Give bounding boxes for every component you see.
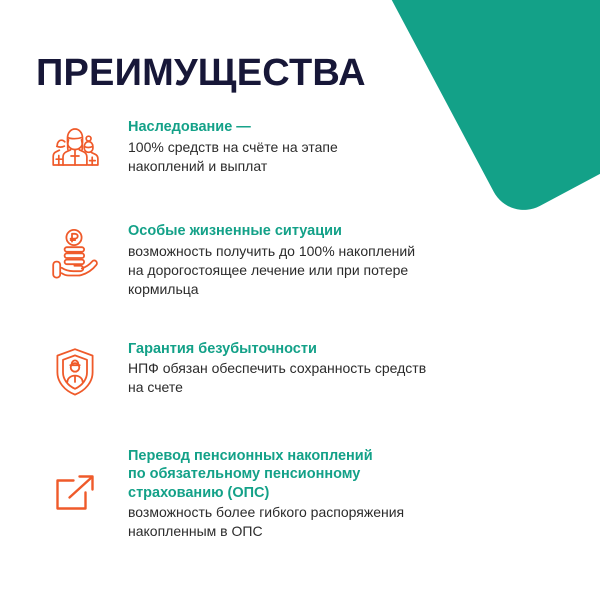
page-title: ПРЕИМУЩЕСТВА bbox=[36, 50, 366, 96]
benefit-text-block: Гарантия безубыточности НПФ обязан обесп… bbox=[106, 340, 600, 398]
benefit-heading: Особые жизненные ситуации bbox=[128, 222, 600, 241]
hand-with-coins-ruble-icon bbox=[44, 222, 106, 284]
shield-person-icon bbox=[44, 340, 106, 402]
benefit-description: 100% средств на счёте на этапе накоплени… bbox=[128, 138, 600, 176]
benefit-heading: Перевод пенсионных накоплений по обязате… bbox=[128, 447, 600, 503]
benefit-item: Наследование — 100% средств на счёте на … bbox=[0, 118, 600, 178]
benefit-text-block: Наследование — 100% средств на счёте на … bbox=[106, 118, 600, 176]
family-group-icon bbox=[44, 118, 106, 178]
export-arrow-icon bbox=[44, 447, 106, 529]
benefit-item: Перевод пенсионных накоплений по обязате… bbox=[0, 447, 600, 542]
benefit-description: возможность получить до 100% накоплений … bbox=[128, 242, 600, 299]
benefits-list: Наследование — 100% средств на счёте на … bbox=[0, 118, 600, 541]
benefit-item: Гарантия безубыточности НПФ обязан обесп… bbox=[0, 340, 600, 402]
benefit-description: НПФ обязан обеспечить сохранность средст… bbox=[128, 359, 600, 397]
benefit-text-block: Перевод пенсионных накоплений по обязате… bbox=[106, 447, 600, 542]
benefit-description: возможность более гибкого распоряжения н… bbox=[128, 503, 600, 541]
benefit-item: Особые жизненные ситуации возможность по… bbox=[0, 222, 600, 299]
benefit-heading: Гарантия безубыточности bbox=[128, 340, 600, 359]
benefit-text-block: Особые жизненные ситуации возможность по… bbox=[106, 222, 600, 299]
slide-root: ПРЕИМУЩЕСТВА bbox=[0, 0, 600, 600]
benefit-heading: Наследование — bbox=[128, 118, 600, 137]
